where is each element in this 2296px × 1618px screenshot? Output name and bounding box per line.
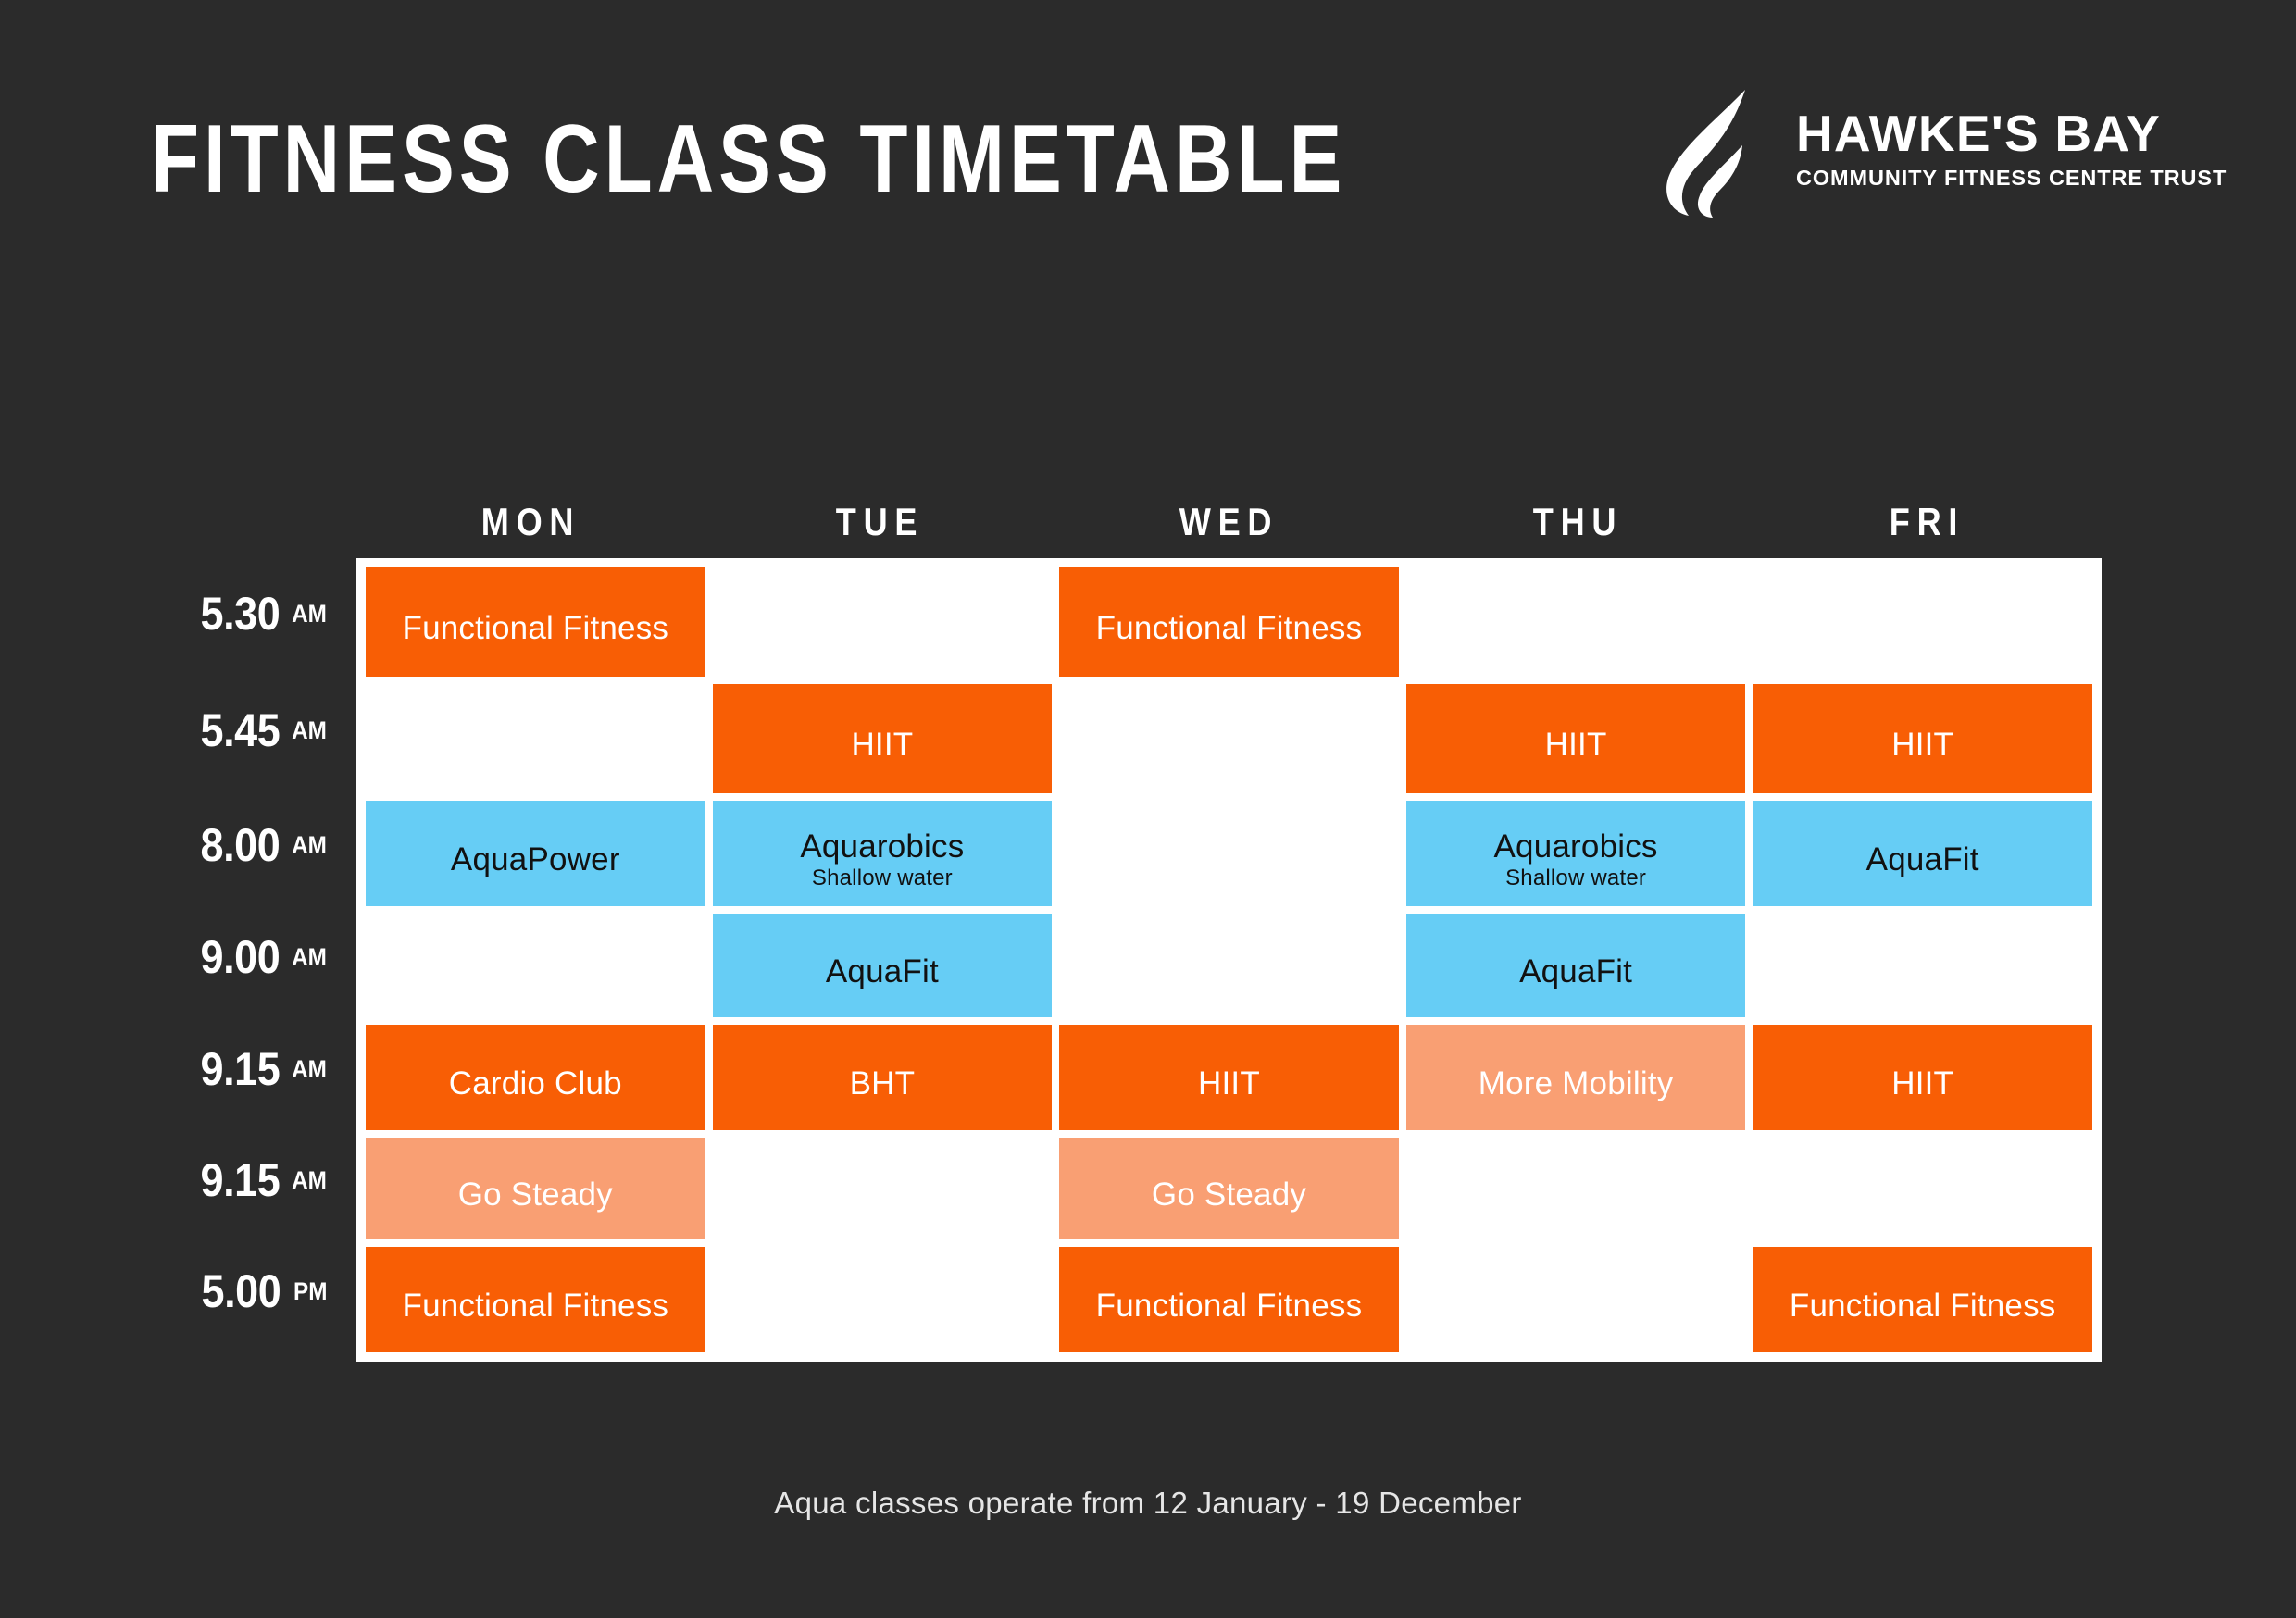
footer-note: Aqua classes operate from 12 January - 1…	[0, 1486, 2296, 1521]
day-header-thu: THU	[1428, 503, 1728, 547]
class-cell-fri-2[interactable]: AquaFit	[1749, 797, 2096, 910]
class-cell-thu-1[interactable]: HIIT	[1403, 680, 1750, 797]
time-label-row-5: 9.15AM	[153, 1128, 329, 1238]
class-cell-tue-2[interactable]: AquarobicsShallow water	[709, 797, 1056, 910]
class-cell-content: Functional Fitness	[1790, 1276, 2056, 1324]
class-name: More Mobility	[1479, 1067, 1674, 1101]
class-cell-mon-0[interactable]: Functional Fitness	[362, 564, 709, 680]
time-meridiem: AM	[292, 602, 327, 627]
day-header-wed: WED	[1079, 503, 1379, 547]
time-value: 5.00	[202, 1268, 281, 1314]
class-name: Functional Fitness	[402, 612, 668, 646]
class-name: Aquarobics	[800, 830, 964, 865]
class-name: BHT	[850, 1067, 916, 1101]
class-name: Functional Fitness	[402, 1289, 668, 1324]
class-cell-thu-4[interactable]: More Mobility	[1403, 1021, 1750, 1134]
class-cell-content: Functional Fitness	[1096, 1276, 1363, 1324]
empty-cell-thu-5	[1403, 1134, 1750, 1243]
empty-cell-wed-2	[1055, 797, 1403, 910]
class-cell-tue-1[interactable]: HIIT	[709, 680, 1056, 797]
class-cell-content: HIIT	[851, 716, 913, 763]
class-cell-content: AquaFit	[826, 942, 939, 989]
timetable-row: AquaFitAquaFit	[362, 910, 2096, 1021]
day-header-mon: MON	[381, 503, 680, 547]
empty-cell-fri-5	[1749, 1134, 2096, 1243]
class-cell-tue-3[interactable]: AquaFit	[709, 910, 1056, 1021]
time-value: 5.30	[200, 591, 280, 637]
time-meridiem: PM	[293, 1279, 327, 1304]
time-meridiem: AM	[292, 1168, 327, 1193]
class-cell-content: AquaFit	[1519, 942, 1632, 989]
empty-cell-tue-5	[709, 1134, 1056, 1243]
class-name: HIIT	[1198, 1067, 1260, 1101]
time-label-row-1: 5.45AM	[153, 675, 329, 791]
timetable-grid: Functional FitnessFunctional FitnessHIIT…	[356, 558, 2102, 1362]
time-value: 8.00	[200, 822, 280, 868]
class-cell-content: HIIT	[1891, 716, 1953, 763]
time-column: 5.30AM5.45AM8.00AM9.00AM9.15AM9.15AM5.00…	[153, 558, 356, 1362]
empty-cell-wed-1	[1055, 680, 1403, 797]
class-cell-wed-0[interactable]: Functional Fitness	[1055, 564, 1403, 680]
class-cell-content: Go Steady	[1152, 1165, 1306, 1213]
class-name: HIIT	[1891, 1067, 1953, 1101]
class-cell-wed-6[interactable]: Functional Fitness	[1055, 1243, 1403, 1356]
class-subtitle: Shallow water	[800, 866, 964, 890]
class-cell-content: Cardio Club	[449, 1054, 622, 1101]
class-subtitle: Shallow water	[1494, 866, 1658, 890]
day-header-fri: FRI	[1777, 503, 2077, 547]
class-cell-content: AquaPower	[451, 830, 620, 877]
class-name: AquaFit	[826, 955, 939, 989]
class-name: HIIT	[1891, 728, 1953, 763]
empty-cell-mon-3	[362, 910, 709, 1021]
class-name: Go Steady	[1152, 1178, 1306, 1213]
time-label-row-3: 9.00AM	[153, 904, 329, 1015]
page-header: FITNESS CLASS TIMETABLE HAWKE'S BAY COMM…	[0, 0, 2296, 241]
class-cell-content: Functional Fitness	[402, 1276, 668, 1324]
class-name: AquaFit	[1519, 955, 1632, 989]
class-name: AquaFit	[1866, 843, 1979, 877]
logo-wordmark: HAWKE'S BAY COMMUNITY FITNESS CENTRE TRU…	[1796, 108, 2176, 190]
class-cell-content: Functional Fitness	[402, 599, 668, 646]
class-name: Aquarobics	[1494, 830, 1658, 865]
empty-cell-tue-6	[709, 1243, 1056, 1356]
class-name: Functional Fitness	[1096, 612, 1363, 646]
timetable-row: Go SteadyGo Steady	[362, 1134, 2096, 1243]
class-cell-content: More Mobility	[1479, 1054, 1674, 1101]
time-meridiem: AM	[292, 833, 327, 858]
empty-cell-tue-0	[709, 564, 1056, 680]
class-name: HIIT	[1545, 728, 1607, 763]
class-cell-content: Functional Fitness	[1096, 599, 1363, 646]
class-name: HIIT	[851, 728, 913, 763]
class-name: AquaPower	[451, 843, 620, 877]
class-cell-content: Go Steady	[458, 1165, 613, 1213]
timetable-row: AquaPowerAquarobicsShallow waterAquarobi…	[362, 797, 2096, 910]
day-header-tue: TUE	[730, 503, 1029, 547]
day-header-row: MONTUEWEDTHUFRI	[153, 477, 2102, 547]
time-value: 9.15	[200, 1157, 280, 1203]
class-cell-content: HIIT	[1545, 716, 1607, 763]
timetable-row: Cardio ClubBHTHIITMore MobilityHIIT	[362, 1021, 2096, 1134]
time-meridiem: AM	[292, 945, 327, 970]
page-title: FITNESS CLASS TIMETABLE	[151, 111, 1346, 207]
time-value: 9.15	[200, 1046, 280, 1092]
empty-cell-thu-0	[1403, 564, 1750, 680]
class-name: Cardio Club	[449, 1067, 622, 1101]
time-label-row-4: 9.15AM	[153, 1015, 329, 1128]
class-cell-content: HIIT	[1891, 1054, 1953, 1101]
brand-logo: HAWKE'S BAY COMMUNITY FITNESS CENTRE TRU…	[1657, 88, 2176, 218]
empty-cell-wed-3	[1055, 910, 1403, 1021]
class-name: Go Steady	[458, 1178, 613, 1213]
class-cell-wed-4[interactable]: HIIT	[1055, 1021, 1403, 1134]
timetable-row: Functional FitnessFunctional Fitness	[362, 564, 2096, 680]
empty-cell-fri-3	[1749, 910, 2096, 1021]
time-meridiem: AM	[292, 718, 327, 743]
flame-logo-icon	[1657, 88, 1778, 218]
class-cell-mon-4[interactable]: Cardio Club	[362, 1021, 709, 1134]
time-label-row-0: 5.30AM	[153, 558, 329, 675]
class-cell-fri-4[interactable]: HIIT	[1749, 1021, 2096, 1134]
time-value: 5.45	[200, 707, 280, 753]
time-value: 9.00	[200, 934, 280, 980]
class-name: Functional Fitness	[1790, 1289, 2056, 1324]
time-label-row-6: 5.00PM	[153, 1238, 329, 1350]
timetable: MONTUEWEDTHUFRI 5.30AM5.45AM8.00AM9.00AM…	[153, 477, 2102, 1362]
timetable-row: HIITHIITHIIT	[362, 680, 2096, 797]
class-cell-fri-1[interactable]: HIIT	[1749, 680, 2096, 797]
class-cell-mon-2[interactable]: AquaPower	[362, 797, 709, 910]
class-cell-content: BHT	[850, 1054, 916, 1101]
class-cell-fri-6[interactable]: Functional Fitness	[1749, 1243, 2096, 1356]
logo-primary-text: HAWKE'S BAY	[1796, 108, 2176, 159]
class-cell-thu-3[interactable]: AquaFit	[1403, 910, 1750, 1021]
class-cell-content: HIIT	[1198, 1054, 1260, 1101]
class-cell-mon-5[interactable]: Go Steady	[362, 1134, 709, 1243]
class-cell-thu-2[interactable]: AquarobicsShallow water	[1403, 797, 1750, 910]
class-cell-mon-6[interactable]: Functional Fitness	[362, 1243, 709, 1356]
time-label-row-2: 8.00AM	[153, 791, 329, 904]
class-name: Functional Fitness	[1096, 1289, 1363, 1324]
timetable-row: Functional FitnessFunctional FitnessFunc…	[362, 1243, 2096, 1356]
class-cell-tue-4[interactable]: BHT	[709, 1021, 1056, 1134]
time-meridiem: AM	[292, 1057, 327, 1082]
empty-cell-mon-1	[362, 680, 709, 797]
class-cell-wed-5[interactable]: Go Steady	[1055, 1134, 1403, 1243]
empty-cell-fri-0	[1749, 564, 2096, 680]
empty-cell-thu-6	[1403, 1243, 1750, 1356]
class-cell-content: AquarobicsShallow water	[800, 817, 964, 890]
logo-secondary-text: COMMUNITY FITNESS CENTRE TRUST	[1796, 168, 2176, 190]
class-cell-content: AquarobicsShallow water	[1494, 817, 1658, 890]
class-cell-content: AquaFit	[1866, 830, 1979, 877]
